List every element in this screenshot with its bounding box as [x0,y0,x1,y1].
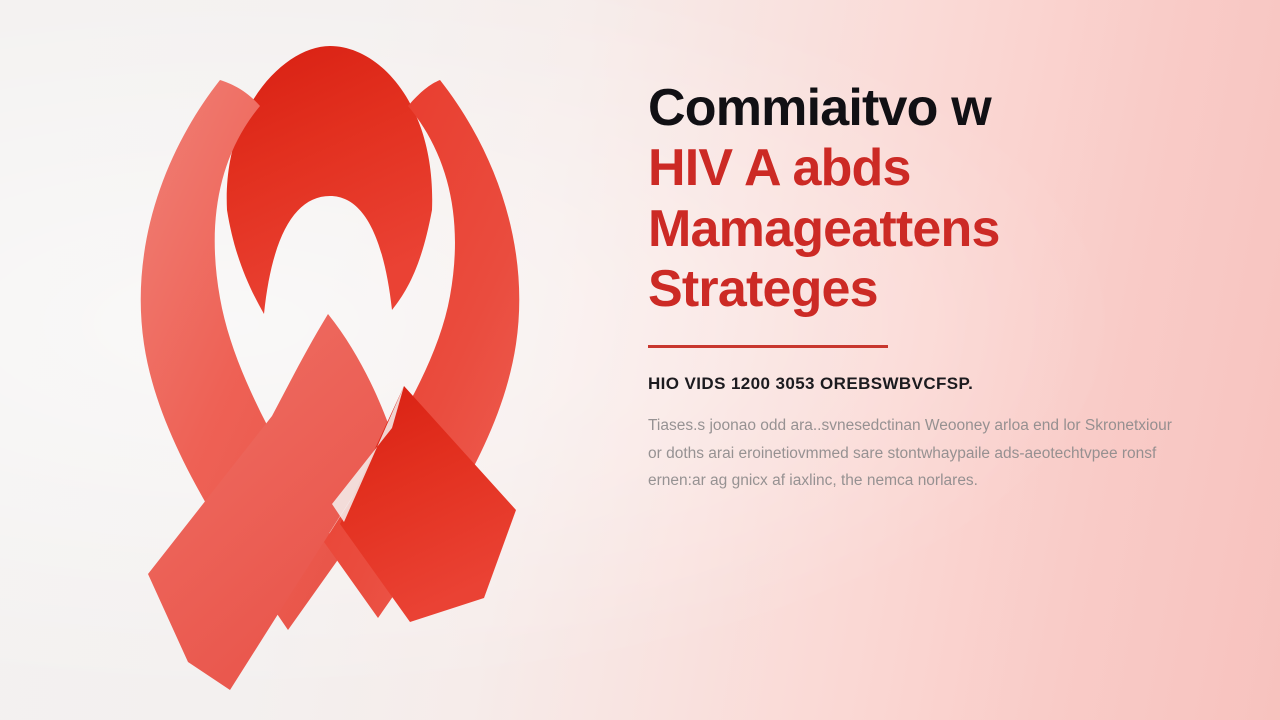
subheading: HIO VIDS 1200 3053 OREBSWBVCFSP. [648,374,1228,394]
title-line-2: HIV A abds [648,138,1228,198]
title-line-1: Commiaitvo w [648,78,1228,138]
title-line-3: Mamageattens [648,199,1228,259]
body-line-4: norlares. [918,472,978,489]
title-divider [648,345,888,348]
title-line-4: Strateges [648,259,1228,319]
text-column: Commiaitvo w HIV A abds Mamageattens Str… [648,78,1228,495]
page-title: Commiaitvo w HIV A abds Mamageattens Str… [648,78,1228,319]
body-paragraph: Tiases.s joonao odd ara..svnesedctinan W… [648,412,1188,495]
slide-canvas: Commiaitvo w HIV A abds Mamageattens Str… [0,0,1280,720]
awareness-ribbon-illustration [92,14,562,704]
body-line-1: Tiases.s joonao odd ara..svnesedctinan W… [648,417,1081,434]
